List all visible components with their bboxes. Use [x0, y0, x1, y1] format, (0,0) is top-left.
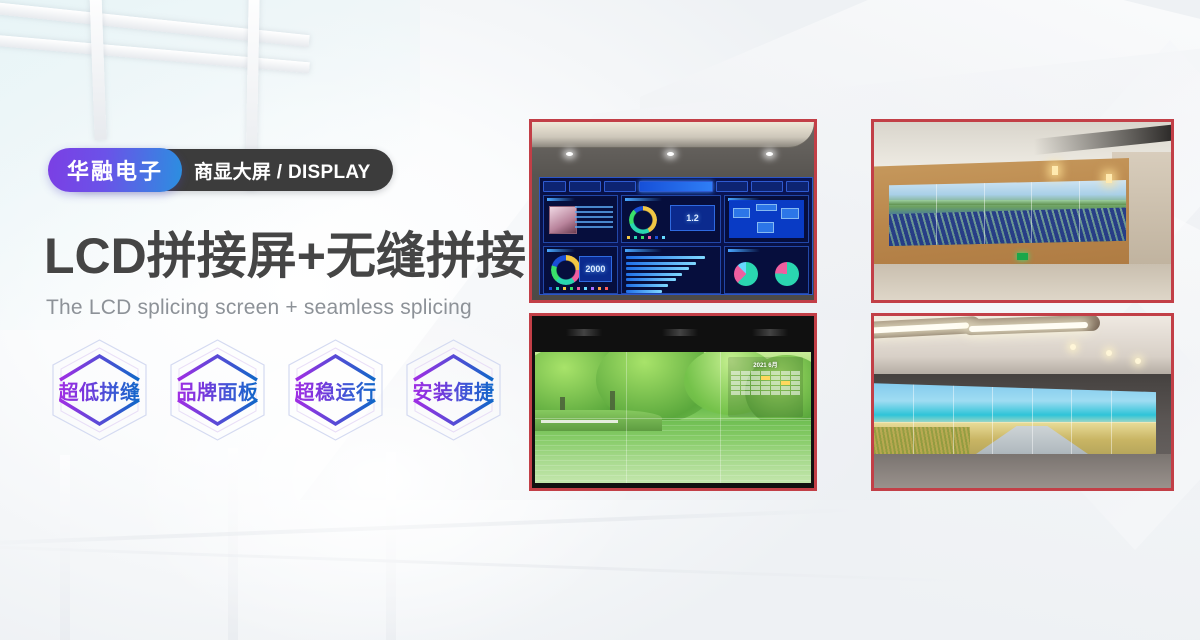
- video-wall-screen: [889, 180, 1127, 246]
- dashboard-nav: [543, 181, 809, 192]
- floor: [874, 454, 1171, 488]
- feature-badge-list: 超低拼缝 品牌面板 超稳运行: [46, 336, 507, 444]
- feature-badge-label: 超低拼缝: [59, 376, 141, 405]
- dashboard-card-bars: [621, 246, 721, 294]
- page-subtitle: The LCD splicing screen + seamless splic…: [46, 296, 472, 320]
- page-title: LCD拼接屏+无缝拼接: [44, 228, 526, 284]
- brand-header: 华融电子 商显大屏 / DISPLAY: [48, 148, 393, 192]
- feature-badge-label: 超稳运行: [295, 376, 377, 405]
- feature-badge[interactable]: 品牌面板: [164, 336, 271, 444]
- dashboard-card-flow: [724, 195, 809, 243]
- feature-badge[interactable]: 超稳运行: [282, 336, 389, 444]
- kpi-value: 1.2: [670, 205, 715, 231]
- solar-farm-image: [889, 205, 1127, 246]
- feature-badge[interactable]: 安装便捷: [400, 336, 507, 444]
- nature-scene-image: 2021 6月: [535, 352, 811, 483]
- dashboard-card-kpi2: 2000: [543, 246, 618, 294]
- dashboard-screen: 1.2: [539, 177, 813, 295]
- dashboard-card-pies: [724, 246, 809, 294]
- video-wall-screen: [874, 378, 1156, 466]
- photo-dashboard-video-wall[interactable]: 1.2: [529, 119, 817, 303]
- exit-sign-icon: [1017, 253, 1028, 260]
- calendar-title: 2021 6月: [731, 360, 800, 369]
- brand-badge[interactable]: 华融电子: [48, 148, 182, 192]
- calendar-overlay: 2021 6月: [728, 357, 803, 417]
- dashboard-card-kpi: 1.2: [621, 195, 721, 243]
- feature-badge-label: 安装便捷: [413, 376, 495, 405]
- ceiling: [532, 122, 814, 148]
- feature-badge[interactable]: 超低拼缝: [46, 336, 153, 444]
- dashboard-card-overview: [543, 195, 618, 243]
- screen-bezel: [532, 316, 814, 350]
- photo-nature-lake-wall[interactable]: 2021 6月: [529, 313, 817, 491]
- photo-solar-farm-corridor-wall[interactable]: [871, 119, 1174, 303]
- kpi-value-secondary: 2000: [579, 256, 613, 282]
- floor: [874, 264, 1171, 300]
- banner-content: 华融电子 商显大屏 / DISPLAY LCD拼接屏+无缝拼接 The LCD …: [44, 0, 544, 640]
- product-photo-grid: 1.2: [529, 119, 1174, 491]
- photo-beach-boardwalk-wall[interactable]: [871, 313, 1174, 491]
- feature-badge-label: 品牌面板: [177, 376, 259, 405]
